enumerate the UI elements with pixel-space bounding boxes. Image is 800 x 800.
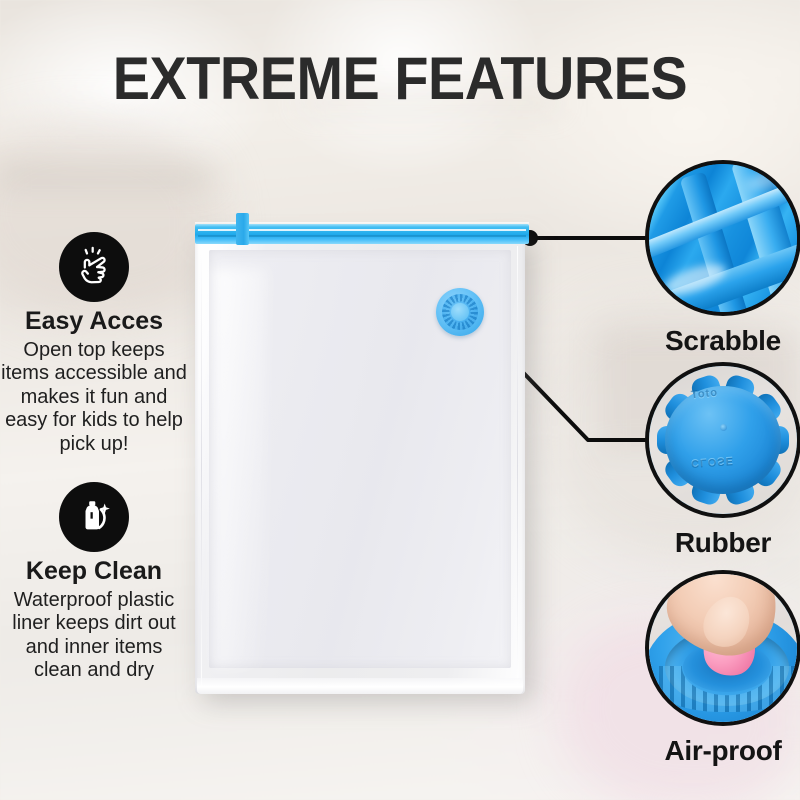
callout-label: Rubber	[623, 527, 800, 559]
bag-highlight	[213, 268, 267, 668]
tap-hand-icon	[59, 232, 129, 302]
page-title: EXTREME FEATURES	[28, 44, 772, 113]
bag-seam-left	[201, 246, 202, 686]
callout-label: Air-proof	[623, 735, 800, 767]
callout-photo-air-proof	[645, 570, 800, 726]
finger-valve-closeup-photo	[649, 574, 797, 722]
bag-seam-right	[517, 246, 518, 686]
valve-center-cap	[451, 303, 469, 321]
zipper-slider-closeup-photo	[649, 164, 797, 312]
product-bag	[195, 216, 529, 694]
cap-gear-teeth: Toto CLOSE	[657, 378, 789, 502]
infographic-canvas: EXTREME FEATURES Easy Acces Open top kee…	[0, 0, 800, 800]
feature-body: Open top keeps items accessible and make…	[0, 339, 194, 457]
spray-bottle-sparkle-icon	[59, 482, 129, 552]
callout-rubber[interactable]: Toto CLOSE Rubber	[623, 362, 800, 559]
feature-body: Waterproof plastic liner keeps dirt out …	[0, 589, 194, 683]
valve-cap-closeup-photo: Toto CLOSE	[649, 366, 797, 514]
callout-photo-scrabble	[645, 160, 800, 316]
callout-air-proof[interactable]: Air-proof	[623, 570, 800, 767]
bag-bottom-band	[197, 678, 523, 694]
bag-air-valve[interactable]	[436, 288, 484, 336]
feature-keep-clean: Keep Clean Waterproof plastic liner keep…	[0, 482, 194, 683]
bag-zipper	[195, 222, 529, 246]
feature-easy-access: Easy Acces Open top keeps items accessib…	[0, 232, 194, 456]
zipper-slider-tab[interactable]	[236, 213, 249, 245]
feature-title: Easy Acces	[0, 308, 194, 336]
callout-photo-rubber: Toto CLOSE	[645, 362, 800, 518]
cap-face	[665, 386, 781, 494]
callout-label: Scrabble	[623, 325, 800, 357]
background-shelf-line	[0, 168, 210, 186]
feature-title: Keep Clean	[0, 558, 194, 586]
callout-scrabble[interactable]: Scrabble	[623, 160, 800, 357]
cap-center-nub	[720, 424, 727, 431]
